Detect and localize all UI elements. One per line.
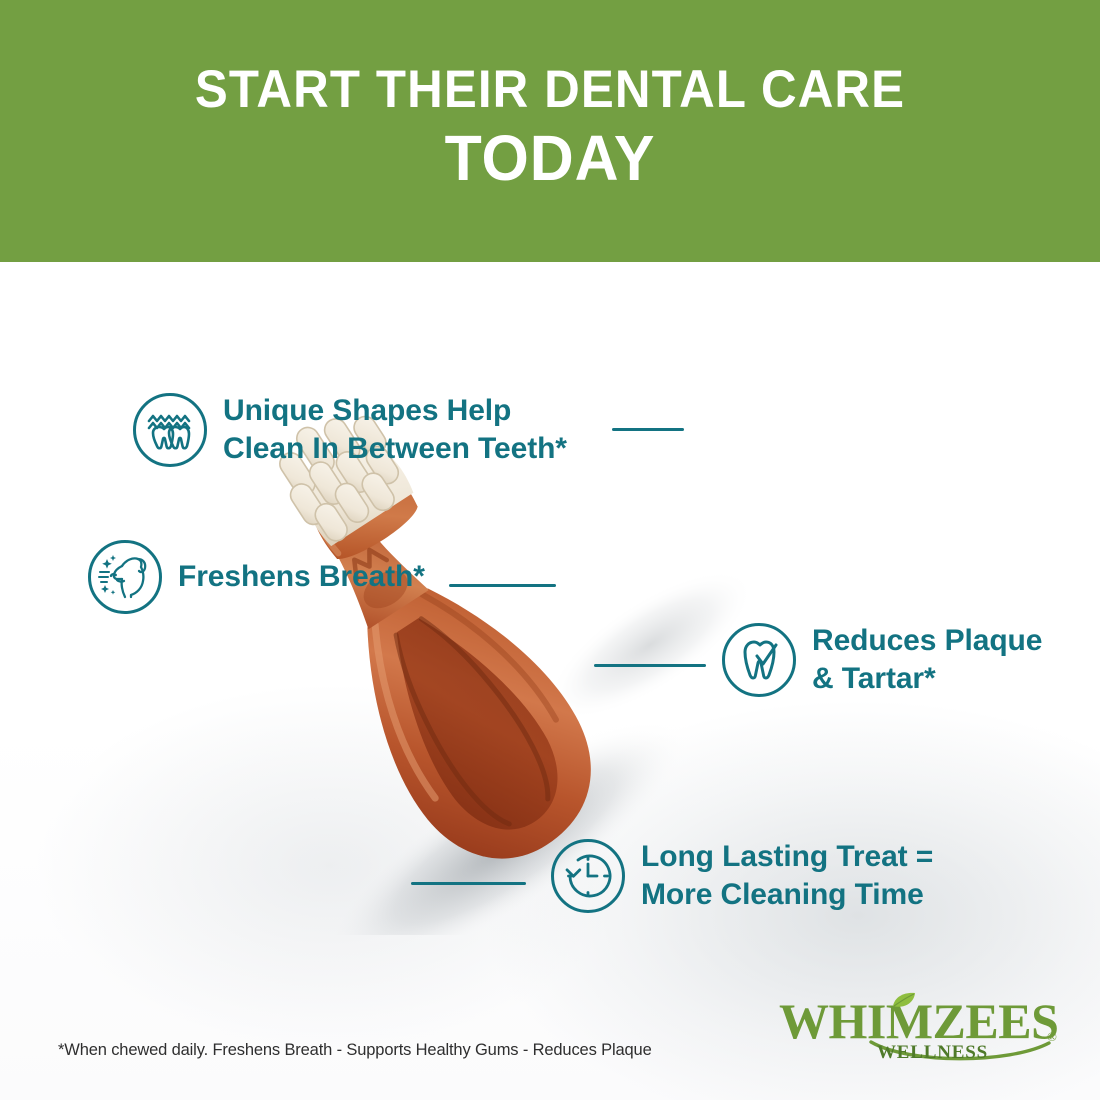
headline-secondary: TODAY: [28, 126, 1073, 190]
logo-wordmark: WHIMZEES: [779, 996, 1058, 1046]
callout-unique-shapes: Unique Shapes Help Clean In Between Teet…: [133, 392, 567, 469]
callout-long-lasting-label: Long Lasting Treat = More Cleaning Time: [641, 838, 933, 915]
callout-unique-shapes-label: Unique Shapes Help Clean In Between Teet…: [223, 392, 567, 469]
connector-line-freshens-breath: [449, 584, 556, 587]
connector-line-long-lasting: [411, 882, 526, 885]
callout-reduces-plaque-label: Reduces Plaque & Tartar*: [812, 622, 1042, 699]
dog-head-sparkle-breath-icon: [88, 540, 162, 614]
disclaimer-text: *When chewed daily. Freshens Breath - Su…: [58, 1041, 652, 1060]
clock-refresh-icon: [551, 839, 625, 913]
dental-care-promo-poster: START THEIR DENTAL CARE TODAY: [0, 0, 1100, 1100]
whimzees-wellness-logo: WHIMZEES WELLNESS ®: [779, 996, 1069, 1070]
connector-line-unique-shapes: [612, 428, 684, 431]
headline-primary: START THEIR DENTAL CARE: [39, 63, 1062, 116]
callout-long-lasting: Long Lasting Treat = More Cleaning Time: [551, 838, 933, 915]
logo-leaf-icon: [891, 992, 917, 1010]
logo-registered-mark: ®: [1047, 1030, 1057, 1043]
logo-subtitle: WELLNESS: [877, 1043, 988, 1062]
connector-line-reduces-plaque: [594, 664, 706, 667]
callout-reduces-plaque: Reduces Plaque & Tartar*: [722, 622, 1042, 699]
callout-freshens-breath: Freshens Breath*: [88, 540, 425, 614]
callout-freshens-breath-label: Freshens Breath*: [178, 558, 425, 596]
two-teeth-zigzag-icon: [133, 393, 207, 467]
tooth-checkmark-icon: [722, 623, 796, 697]
